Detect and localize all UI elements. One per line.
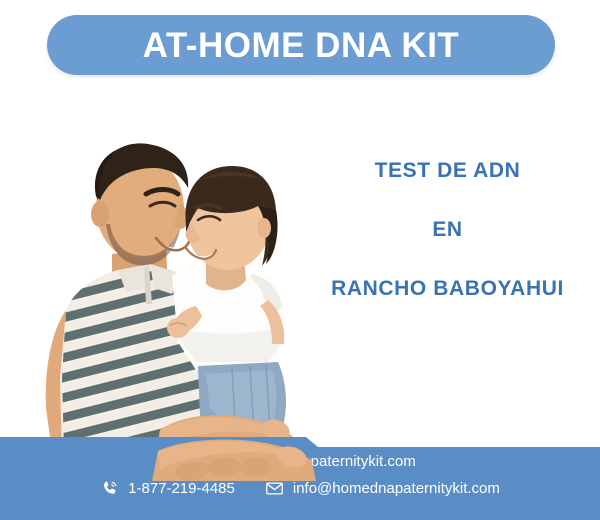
- envelope-icon: [265, 479, 284, 498]
- phone-icon: [100, 479, 119, 498]
- footer-bar: www.homednapaternitykit.com 1-877-219-44…: [0, 437, 600, 520]
- family-photo: [0, 78, 312, 478]
- footer-row-phone-email: 1-877-219-4485 info@homednapaternitykit.…: [100, 479, 500, 498]
- footer-row-website: www.homednapaternitykit.com: [184, 452, 415, 471]
- globe-icon: [184, 452, 203, 471]
- website-item[interactable]: www.homednapaternitykit.com: [184, 452, 415, 471]
- phone-label: 1-877-219-4485: [128, 481, 235, 496]
- headline-line-1: TEST DE ADN: [300, 160, 595, 181]
- poster-canvas: AT-HOME DNA KIT: [0, 0, 600, 520]
- headline-line-3: RANCHO BABOYAHUI: [300, 278, 595, 299]
- headline-line-2: EN: [300, 219, 595, 240]
- website-label: www.homednapaternitykit.com: [212, 454, 415, 469]
- page-title: AT-HOME DNA KIT: [143, 28, 460, 63]
- email-item[interactable]: info@homednapaternitykit.com: [265, 479, 500, 498]
- footer-contact-rows: www.homednapaternitykit.com 1-877-219-44…: [0, 437, 600, 520]
- phone-item[interactable]: 1-877-219-4485: [100, 479, 235, 498]
- title-banner: AT-HOME DNA KIT: [47, 15, 555, 75]
- headline-block: TEST DE ADN EN RANCHO BABOYAHUI: [300, 160, 595, 299]
- email-label: info@homednapaternitykit.com: [293, 481, 500, 496]
